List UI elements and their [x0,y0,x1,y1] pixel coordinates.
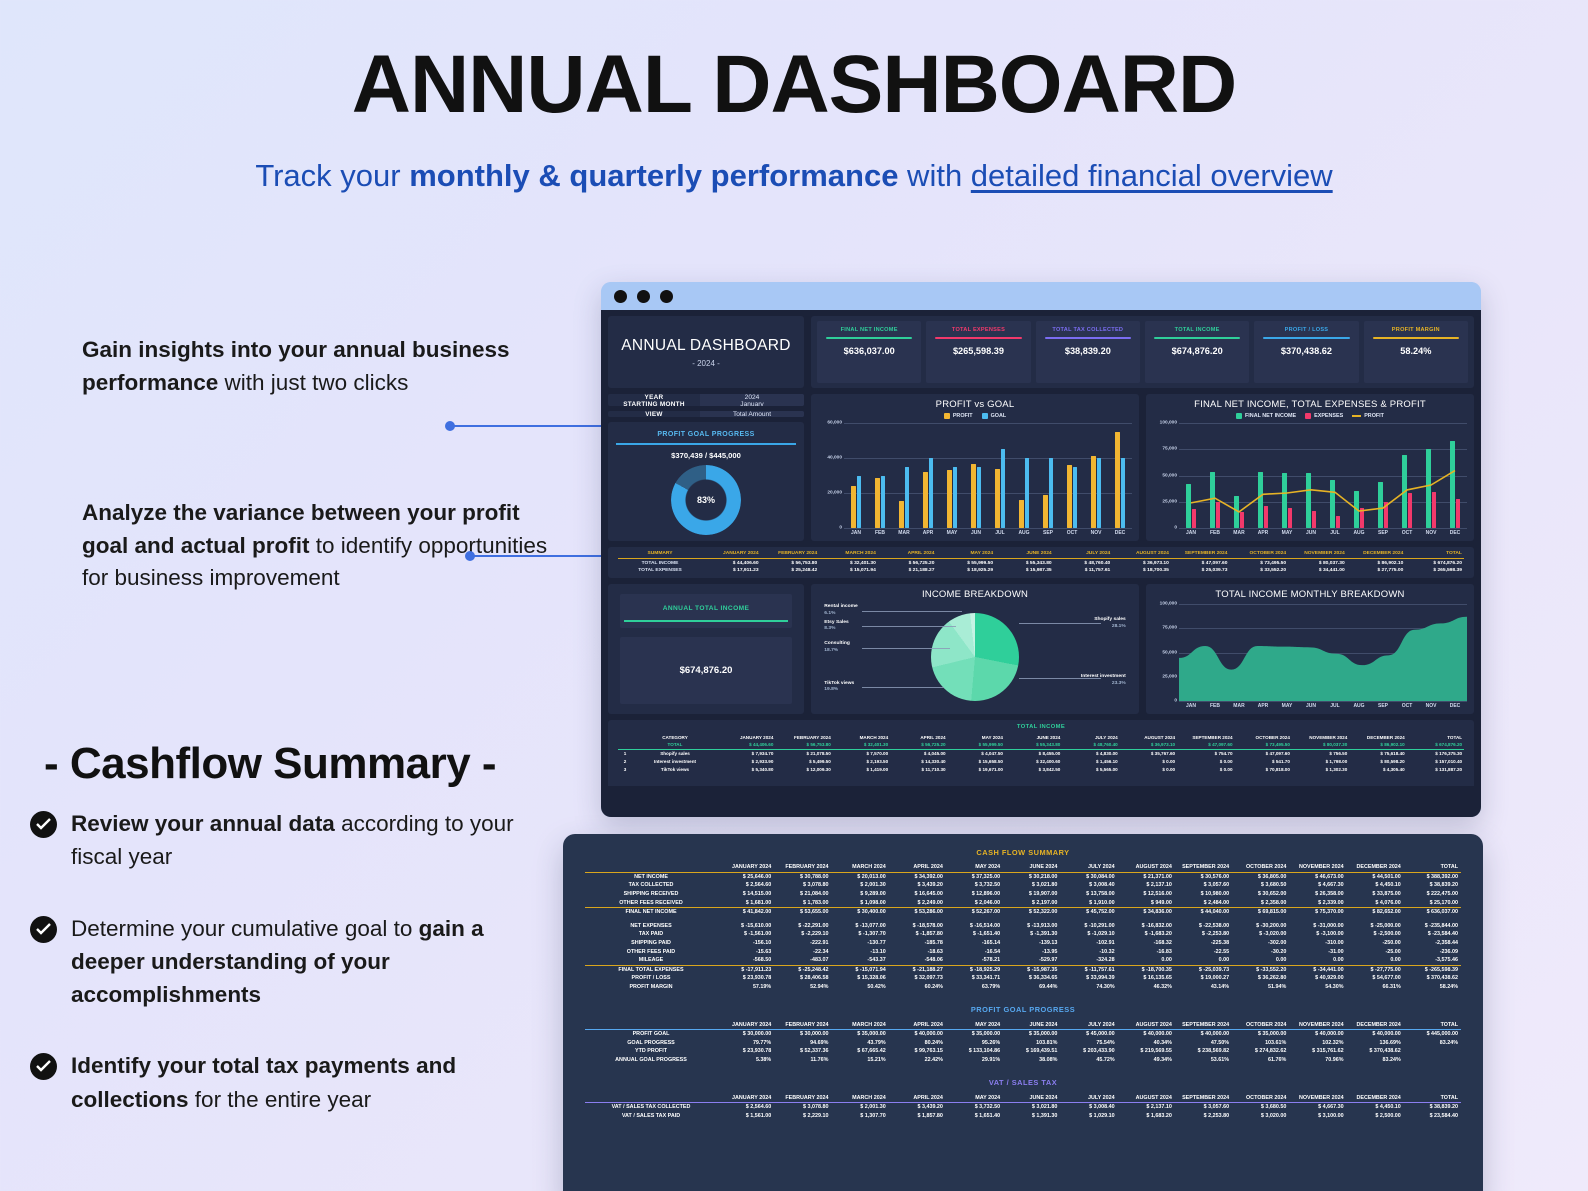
kpi-accent-rule [935,337,1021,339]
column-header: JUNE 2024 [1003,863,1060,872]
kpi-accent-rule [1373,337,1459,339]
table-cell: $ -16,832.00 [1118,922,1175,931]
table-cell: 102.32% [1289,1039,1346,1048]
table-cell: $ 32,097.73 [889,974,946,983]
table-cell: -2,358.44 [1404,939,1461,948]
table-row: NET EXPENSES$ -15,610.00$ -22,291.00$ -1… [585,922,1461,931]
column-header: TOTAL [1407,733,1464,741]
table-cell: -10.32 [1060,947,1117,956]
y-tick-label: 60,000 [827,421,842,426]
table-cell: $ 56,753.80 [775,741,832,749]
row-label: TAX COLLECTED [585,881,717,890]
table-row: PROFIT / LOSS$ 23,930.78$ 28,406.58$ 15,… [585,974,1461,983]
table-cell: $ 25,170.00 [1404,898,1461,907]
column-header: SEPTEMBER 2024 [1177,733,1234,741]
row-label: SHIPPING PAID [585,939,717,948]
table-cell: -22.34 [774,947,831,956]
table-cell: $ 40,000.00 [1175,1030,1232,1039]
subtitle-bold: monthly & quarterly performance [409,158,898,193]
field-year-value[interactable]: 2024 [700,394,804,401]
table-cell: $ 55,999.50 [936,559,995,566]
table-cell: $ 315,761.62 [1289,1047,1346,1056]
table-cell: $ 30,218.00 [1003,873,1060,882]
row-label: TOTAL INCOME [618,559,702,566]
bar [1121,458,1125,528]
x-tick-label: FEB [1203,701,1227,711]
column-header: APRIL 2024 [889,1093,946,1102]
table-cell: 0.00 [1232,956,1289,965]
table-row: TOTAL INCOME$ 44,406.60$ 56,753.80$ 32,4… [618,559,1464,566]
row-label: GOAL PROGRESS [585,1039,717,1048]
table-cell: -18.63 [889,947,946,956]
table-cell: -25.00 [1347,947,1404,956]
table-cell: $ -2,500.00 [1347,930,1404,939]
table-cell: $ 2,137.10 [1118,881,1175,890]
plot-area [844,423,1132,528]
table-row: PROFIT MARGIN57.19%52.94%50.42%60.24%63.… [585,983,1461,992]
chart-legend: PROFITGOAL [818,413,1132,419]
table-cell: $ 4,450.10 [1347,881,1404,890]
table-cell: $ 2,001.30 [831,1103,888,1112]
table-cell: $ 26,358.00 [1289,890,1346,899]
table-cell: $ 15,658.50 [948,757,1005,765]
table-cell: $ -13,077.00 [831,922,888,931]
table-row: 2Interest investment$ 2,933.90$ 5,499.50… [618,757,1464,765]
dashboard-title-card: ANNUAL DASHBOARD - 2024 - [608,316,804,388]
table-cell: $ 219,569.55 [1118,1047,1175,1056]
table-cell: -15.63 [717,947,774,956]
table-cell: $ 30,576.00 [1175,873,1232,882]
chart-net-income-expenses-profit: FINAL NET INCOME, TOTAL EXPENSES & PROFI… [1146,394,1474,541]
table-cell: $ 48,760.40 [1054,559,1113,566]
table-cell: $ -15,610.00 [717,922,774,931]
table-cell: $ -3,020.00 [1232,930,1289,939]
table-cell: $ 1,681.00 [717,898,774,907]
bar [929,458,933,528]
table-cell: $ 3,842.50 [1005,765,1062,773]
table-cell: -529.97 [1003,956,1060,965]
bar-group [916,423,940,528]
column-header: JANUARY 2024 [717,1020,774,1029]
column-header: NOVEMBER 2024 [1288,550,1347,557]
y-tick-label: 25,000 [1162,674,1177,679]
table-cell: $ 16,645.00 [889,890,946,899]
kpi-label: TOTAL INCOME [1149,327,1245,333]
table-cell: $ 52,337.36 [774,1047,831,1056]
x-tick-label: DEC [1443,701,1467,711]
table-cell: 74.30% [1060,983,1117,992]
dashboard-left-column: YEAR 2024 STARTING MONTH January VIEW To… [608,394,804,541]
index-header [618,733,632,741]
pie-chart-area: Shopify sales28.1%Interest investment23.… [818,602,1132,711]
x-tick-label: NOV [1419,528,1443,538]
column-header: JANUARY 2024 [702,550,761,557]
pie-leader-line [862,648,950,649]
bar-group [1084,423,1108,528]
table-cell: $ 52,267.00 [946,908,1003,917]
column-header: OCTOBER 2024 [1235,733,1292,741]
dashboard-middle-row: YEAR 2024 STARTING MONTH January VIEW To… [608,394,1474,541]
table-cell: $ 12,516.00 [1118,890,1175,899]
table-cell: $ 5,499.50 [775,757,832,765]
column-header: FEBRUARY 2024 [761,550,820,557]
column-header: MARCH 2024 [831,1020,888,1029]
table-cell: $ 75,370.00 [1289,908,1346,917]
section-banner: CASH FLOW SUMMARY [585,848,1461,857]
table-cell: $ 1,456.10 [1062,757,1119,765]
pie-label-value: 6.1% [824,611,857,618]
bar [899,501,903,528]
column-header: MARCH 2024 [831,1093,888,1102]
row-label: Interest investment [632,757,718,765]
y-tick-label: 100,000 [1160,421,1177,426]
table-cell: $ 36,973.10 [1112,559,1171,566]
x-tick-label: SEP [1371,701,1395,711]
pie-label-value: 23.3% [1081,681,1126,688]
row-label: ANNUAL GOAL PROGRESS [585,1056,717,1065]
bar [905,467,909,528]
pie-leader-line [862,687,944,688]
table-cell: 94.69% [774,1039,831,1048]
column-header: APRIL 2024 [890,733,947,741]
pie-leader-line [862,611,962,612]
bar [1115,432,1119,528]
chart-plot-area: 100,00075,00050,00025,0000 [1153,604,1467,701]
legend-label: EXPENSES [1314,413,1343,419]
column-header: APRIL 2024 [889,1020,946,1029]
table-cell: -236.09 [1404,947,1461,956]
table-cell: -548.06 [889,956,946,965]
table-cell: 43.79% [831,1039,888,1048]
table-cell: $ 949.00 [1118,898,1175,907]
kpi-card-3: TOTAL INCOME$674,876.20 [1145,321,1249,383]
table-row: TOTAL EXPENSES$ 17,911.23$ 25,248.42$ 15… [618,567,1464,574]
table-cell: -22.55 [1175,947,1232,956]
row-label: VAT / SALES TAX COLLECTED [585,1103,717,1112]
column-header: OCTOBER 2024 [1232,1093,1289,1102]
field-view[interactable]: VIEW Total Amount [608,411,804,417]
page-subtitle: Track your monthly & quarterly performan… [0,158,1588,194]
annual-total-income-label: ANNUAL TOTAL INCOME [620,605,792,612]
table-cell: -222.91 [774,939,831,948]
x-tick-label: JUL [1323,528,1347,538]
table-cell: $ 55,343.80 [995,559,1054,566]
column-header: MAY 2024 [946,1020,1003,1029]
table-cell: $ 12,896.00 [946,890,1003,899]
table-cell [1404,1056,1461,1065]
cashflow-summary-heading: - Cashflow Summary - [44,739,496,789]
table-cell: $ 5,565.00 [1062,765,1119,773]
table-cell: -543.37 [831,956,888,965]
table-cell: $ -13,913.00 [1003,922,1060,931]
table-cell: $ 27,775.00 [1347,567,1406,574]
legend-item: EXPENSES [1305,413,1343,419]
table-cell: 54.30% [1289,983,1346,992]
pie-label-value: 18.7% [824,648,850,655]
table-cell: $ 541.70 [1235,757,1292,765]
bar [953,467,957,528]
field-year[interactable]: YEAR 2024 [608,394,804,401]
table-cell: $ 4,305.40 [1349,765,1406,773]
table-cell: $ 11,757.61 [1054,567,1113,574]
check-circle-icon [30,916,57,943]
column-header: DECEMBER 2024 [1347,863,1404,872]
chart-income-breakdown: INCOME BREAKDOWN Shopify sales28.1%Inter… [811,584,1139,714]
table-cell: $ 32,400.60 [1005,757,1062,765]
x-tick-label: APR [1251,528,1275,538]
bar [923,472,927,528]
table-cell: $ 25,039.73 [1171,567,1230,574]
table-cell: $ 388,392.00 [1404,873,1461,882]
table-cell: $ 4,450.10 [1347,1103,1404,1112]
table-cell: $ 25,248.42 [761,567,820,574]
kpi-value: $370,438.62 [1258,346,1354,356]
kpi-value: $38,839.20 [1040,346,1136,356]
table-cell: $ -22,538.00 [1175,922,1232,931]
table-cell: $ 15,071.94 [819,567,878,574]
window-minimize-icon[interactable] [637,290,650,303]
window-close-icon[interactable] [614,290,627,303]
table-cell: $ 44,406.60 [718,741,775,749]
divider [616,443,796,445]
table-cell: $ 3,078.80 [774,1103,831,1112]
x-tick-label: NOV [1419,701,1443,711]
column-header: APRIL 2024 [878,550,937,557]
table-cell: $ 1,683.20 [1118,1111,1175,1120]
table-cell: $ 33,552.20 [1229,567,1288,574]
field-view-value[interactable]: Total Amount [700,411,804,417]
pie-slice-label: TikTok views19.8% [824,681,854,694]
column-header: AUGUST 2024 [1118,1020,1175,1029]
column-header: JUNE 2024 [1003,1020,1060,1029]
x-tick-label: JAN [1179,701,1203,711]
table-cell: $ 53,286.00 [889,908,946,917]
row-label: OTHER FEES PAID [585,947,717,956]
bar [947,470,951,528]
column-header: SEPTEMBER 2024 [1175,863,1232,872]
window-maximize-icon[interactable] [660,290,673,303]
pointer-arrow-1 [450,425,622,427]
table-cell: $ 274,832.62 [1232,1047,1289,1056]
y-tick-label: 25,000 [1162,499,1177,504]
table-cell: $ 3,680.50 [1232,1103,1289,1112]
table-cell: $ 40,000.00 [889,1030,946,1039]
table-cell: $ -15,071.94 [831,966,888,975]
kpi-label: TOTAL EXPENSES [930,327,1026,333]
table-cell: $ 23,930.78 [717,974,774,983]
column-header: TOTAL [1404,863,1461,872]
column-header: MARCH 2024 [833,733,890,741]
table-cell: $ 21,084.00 [774,890,831,899]
column-header: MAY 2024 [946,1093,1003,1102]
table-cell: 83.24% [1347,1056,1404,1065]
x-tick-label: SEP [1036,528,1060,538]
field-starting-month-label: STARTING MONTH [608,401,700,406]
column-header: JUNE 2024 [1005,733,1062,741]
profit-goal-amounts: $370,439 / $445,000 [671,451,741,460]
table-cell: 5.38% [717,1056,774,1065]
table-cell: $ 1,783.00 [774,898,831,907]
column-header: JULY 2024 [1054,550,1113,557]
table-row: 1Shopify sales$ 7,934.70$ 21,078.50$ 7,5… [618,750,1464,758]
pie-slice-label: Consulting18.7% [824,641,850,654]
bar [881,476,885,529]
chart-title: INCOME BREAKDOWN [818,589,1132,600]
x-tick-label: AUG [1347,528,1371,538]
row-label: VAT / SALES TAX PAID [585,1111,717,1120]
bar-series [844,423,1132,528]
bar [857,476,861,529]
table-cell: $ 47,097.60 [1235,750,1292,758]
table-cell: $ 674,876.20 [1407,741,1464,749]
column-header: APRIL 2024 [889,863,946,872]
pie-label-text: TikTok views [824,681,854,686]
table-cell: $ 4,076.00 [1347,898,1404,907]
table-cell: $ 2,933.90 [718,757,775,765]
table-cell: $ 19,907.00 [1003,890,1060,899]
column-header: JANUARY 2024 [717,863,774,872]
field-starting-month[interactable]: STARTING MONTH January [608,401,804,406]
bar [1019,500,1023,528]
table-cell: $ -21,188.27 [889,966,946,975]
table-cell: 75.54% [1060,1039,1117,1048]
table-cell: 45.72% [1060,1056,1117,1065]
table-cell: $ 1,910.00 [1060,898,1117,907]
bar [851,486,855,528]
table-cell: $ 1,391.30 [1003,1111,1060,1120]
x-tick-label: JAN [1179,528,1203,538]
table-cell: $ 0.00 [1177,757,1234,765]
y-tick-label: 100,000 [1160,602,1177,607]
column-header: MARCH 2024 [819,550,878,557]
table-cell: $ 21,371.00 [1118,873,1175,882]
benefit-2-pre: Determine your cumulative goal to [71,916,419,941]
table-cell: $ 44,406.60 [702,559,761,566]
table-cell: $ 4,667.30 [1289,1103,1346,1112]
table-header-row: JANUARY 2024FEBRUARY 2024MARCH 2024APRIL… [585,1093,1461,1103]
divider [624,620,788,622]
legend-swatch-icon [1236,413,1242,419]
column-header: JULY 2024 [1060,1093,1117,1102]
table-cell: 52.94% [774,983,831,992]
table-cell: $ 370,438.62 [1404,974,1461,983]
table-cell: -578.21 [946,956,1003,965]
table-header-row: JANUARY 2024FEBRUARY 2024MARCH 2024APRIL… [585,1020,1461,1030]
pie-slice-label: Shopify sales28.1% [1094,617,1126,630]
table-cell: $ 15,987.35 [995,567,1054,574]
table-cell: $ 0.00 [1177,765,1234,773]
kpi-card-0: FINAL NET INCOME$636,037.00 [817,321,921,383]
table-row: PROFIT GOAL$ 30,000.00$ 30,000.00$ 35,00… [585,1030,1461,1039]
row-label: TOTAL EXPENSES [618,567,702,574]
table-cell: $ -16,514.00 [946,922,1003,931]
table-cell: $ 30,000.00 [774,1030,831,1039]
x-axis: JANFEBMARAPRMAYJUNJULAUGSEPOCTNOVDEC [844,528,1132,538]
table-cell: 53.61% [1175,1056,1232,1065]
kpi-label: TOTAL TAX COLLECTED [1040,327,1136,333]
table-cell: $ 38,839.20 [1404,1103,1461,1112]
table-cell: $ 2,249.00 [889,898,946,907]
year-month-fields: YEAR 2024 STARTING MONTH January [608,394,804,406]
table-cell: $ 1,419.00 [833,765,890,773]
row-label-header [585,1020,717,1029]
table-header-row: CATEGORYJANUARY 2024FEBRUARY 2024MARCH 2… [618,733,1464,741]
gridline [844,528,1132,529]
index-cell [618,741,632,749]
table-cell: $ 756.50 [1292,750,1349,758]
bar [1049,458,1053,528]
table-cell: $ 370,438.62 [1347,1047,1404,1056]
table-cell: $ 3,021.80 [1003,881,1060,890]
table-cell: 63.79% [946,983,1003,992]
table-cell: $ 4,830.00 [1062,750,1119,758]
dashboard-body: ANNUAL DASHBOARD - 2024 - FINAL NET INCO… [601,310,1481,817]
table-cell: -13.95 [1003,947,1060,956]
kpi-card-row: FINAL NET INCOME$636,037.00TOTAL EXPENSE… [811,316,1474,388]
table-header-row: JANUARY 2024FEBRUARY 2024MARCH 2024APRIL… [585,863,1461,873]
legend-item: PROFIT [944,413,973,419]
table-cell: 50.42% [831,983,888,992]
table-cell: $ 3,078.80 [774,881,831,890]
table-cell: $ -1,029.10 [1060,930,1117,939]
legend-label: FINAL NET INCOME [1245,413,1296,419]
kpi-label: PROFIT / LOSS [1258,327,1354,333]
field-starting-month-value[interactable]: January [700,401,804,406]
column-header: OCTOBER 2024 [1232,863,1289,872]
chart-title: FINAL NET INCOME, TOTAL EXPENSES & PROFI… [1153,399,1467,410]
table-cell: $ -25,039.73 [1175,966,1232,975]
plot-area [1179,604,1467,701]
table-cell: $ 73,495.50 [1229,559,1288,566]
column-header: DECEMBER 2024 [1347,1020,1404,1029]
list-item: Identify your total tax payments and col… [30,1049,550,1116]
table-cell: $ -1,683.20 [1118,930,1175,939]
column-header: SUMMARY [618,550,702,557]
bar [977,467,981,528]
table-cell: $ 55,343.80 [1005,741,1062,749]
x-tick-label: FEB [868,528,892,538]
chart-total-income-monthly: TOTAL INCOME MONTHLY BREAKDOWN 100,00075… [1146,584,1474,714]
table-cell: $ 35,000.00 [1232,1030,1289,1039]
benefit-1-bold: Review your annual data [71,811,335,836]
table-cell: -30.20 [1232,947,1289,956]
table-cell: $ 35,000.00 [831,1030,888,1039]
row-label: OTHER FEES RECEIVED [585,898,717,907]
pie-label-text: Etsy Sales [824,620,848,625]
table-cell: $ 44,040.00 [1175,908,1232,917]
table-cell: $ 33,994.39 [1060,974,1117,983]
table-cell: $ 40,000.00 [1347,1030,1404,1039]
table-total-row: TOTAL$ 44,406.60$ 56,753.80$ 32,401.30$ … [618,741,1464,750]
table-cell: $ 445,000.00 [1404,1030,1461,1039]
table-cell: $ 10,980.00 [1175,890,1232,899]
table-cell: 47.50% [1175,1039,1232,1048]
table-cell: $ 37,325.00 [946,873,1003,882]
annual-total-income-value: $674,876.20 [680,665,733,676]
column-header: FEBRUARY 2024 [774,1020,831,1029]
profit-goal-donut: 83% [671,465,741,535]
table-row: VAT / SALES TAX COLLECTED$ 2,564.60$ 3,0… [585,1103,1461,1112]
check-circle-icon [30,1053,57,1080]
table-cell: $ 1,561.00 [717,1111,774,1120]
table-cell: $ 2,339.00 [1289,898,1346,907]
table-cell: 0.00 [1175,956,1232,965]
table-cell: $ 73,495.50 [1235,741,1292,749]
table-cell: 103.81% [1003,1039,1060,1048]
table-cell: $ 7,934.70 [718,750,775,758]
plot-area [1179,423,1467,528]
table-cell: $ 25,646.00 [717,873,774,882]
